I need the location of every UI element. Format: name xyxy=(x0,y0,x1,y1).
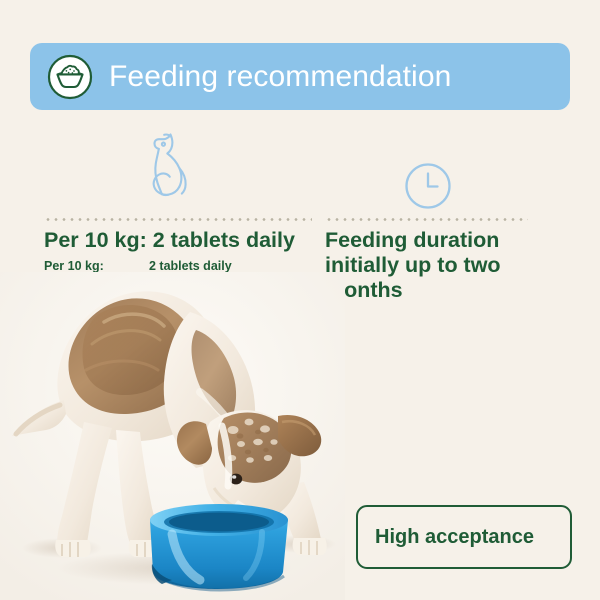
dog-sitting-icon xyxy=(134,130,218,206)
duration-headline-line-2: initially up to two xyxy=(325,253,540,278)
high-acceptance-label: High acceptance xyxy=(375,526,534,548)
feature-column-duration: Feeding duration initially up to two mon… xyxy=(325,228,540,303)
page-title: Feeding recommendation xyxy=(109,62,451,92)
clock-icon xyxy=(403,161,453,211)
high-acceptance-callout: High acceptance xyxy=(356,505,572,569)
dosage-headline: Per 10 kg: 2 tablets daily xyxy=(44,228,319,253)
duration-headline-line-3: months xyxy=(325,278,540,303)
puppy-eating-photo xyxy=(0,272,345,600)
feature-column-dosage: Per 10 kg: 2 tablets daily Per 10 kg: 2 … xyxy=(44,228,319,274)
food-bowl-icon xyxy=(47,54,93,100)
header-banner: Feeding recommendation xyxy=(30,43,570,110)
divider-right xyxy=(325,218,528,221)
duration-headline-line-1: Feeding duration xyxy=(325,228,540,253)
feeding-recommendation-infographic: Feeding recommendation xyxy=(0,0,600,600)
divider-left xyxy=(44,218,312,221)
